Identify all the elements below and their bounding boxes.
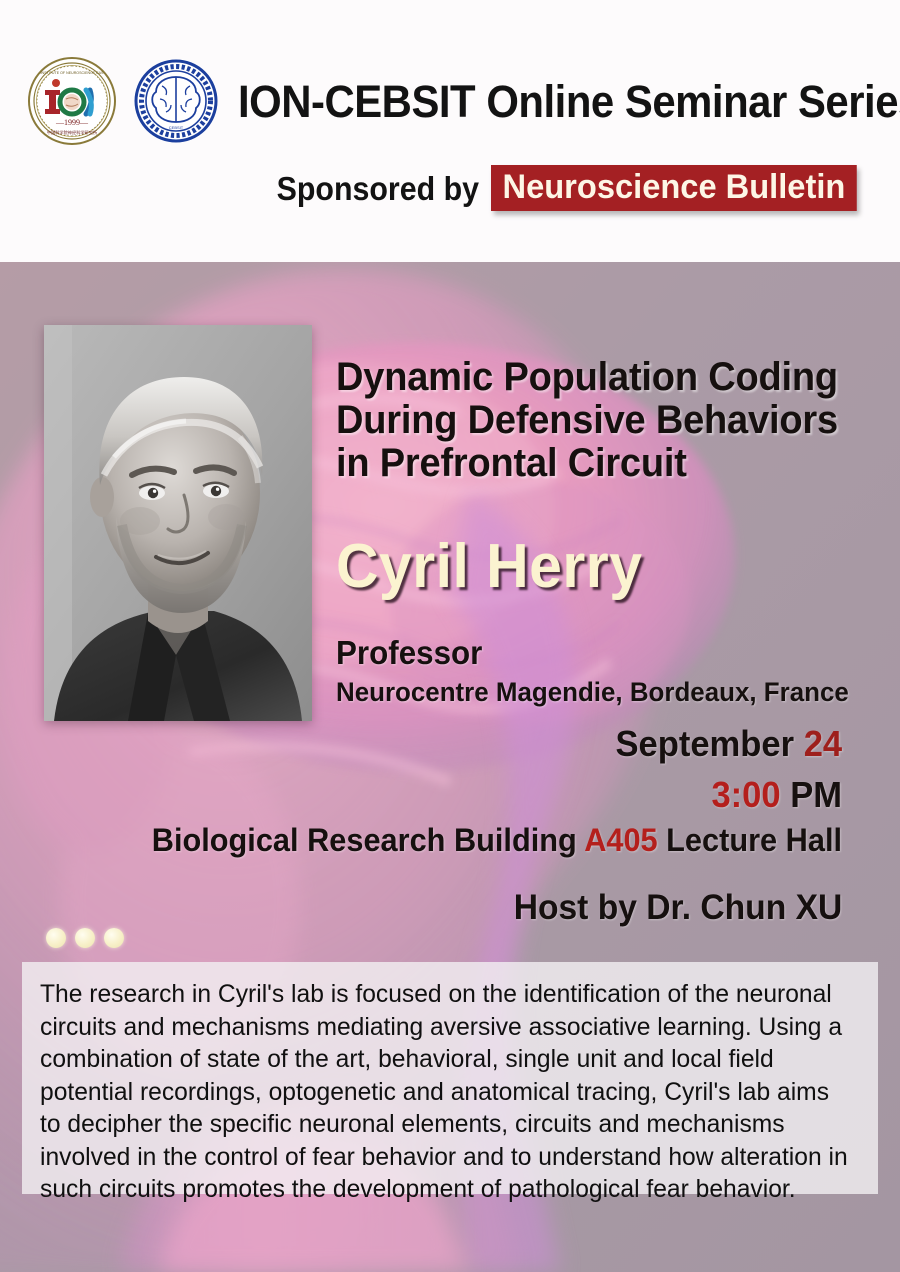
- event-venue-hall: Lecture Hall: [666, 822, 842, 858]
- dot-3: [104, 928, 124, 948]
- sponsor-name-badge: Neuroscience Bulletin: [491, 165, 857, 211]
- sponsor-label: Sponsored by: [276, 172, 478, 205]
- abstract-panel: The research in Cyril's lab is focused o…: [22, 962, 878, 1194]
- speaker-affiliation: Neurocentre Magendie, Bordeaux, France: [336, 679, 849, 706]
- svg-text:—1999—: —1999—: [55, 118, 89, 127]
- svg-text:CEBSIT: CEBSIT: [169, 125, 184, 130]
- speaker-role: Professor: [336, 636, 482, 669]
- svg-text:中国科学院神经科学研究所: 中国科学院神经科学研究所: [47, 129, 97, 136]
- svg-text:INSTITUTE OF NEUROSCIENCE CAS: INSTITUTE OF NEUROSCIENCE CAS: [41, 71, 104, 75]
- talk-title: Dynamic Population Coding During Defensi…: [336, 356, 854, 486]
- event-venue-building: Biological Research Building: [152, 822, 577, 858]
- dot-2: [75, 928, 95, 948]
- event-time: 3:00 PM: [711, 777, 842, 813]
- event-date-month: September: [615, 723, 794, 764]
- event-venue: Biological Research Building A405 Lectur…: [152, 824, 842, 856]
- sponsor-row: Sponsored by Neuroscience Bulletin: [259, 163, 872, 213]
- header-logo-title-row: —1999— 中国科学院神经科学研究所 INSTITUTE OF NEUROSC…: [0, 46, 900, 156]
- event-date: September 24: [615, 726, 842, 762]
- dot-1: [46, 928, 66, 948]
- event-time-clock: 3:00: [711, 774, 780, 815]
- poster-header-band: —1999— 中国科学院神经科学研究所 INSTITUTE OF NEUROSC…: [0, 0, 900, 262]
- talk-title-line-3: in Prefrontal Circuit: [336, 442, 854, 485]
- talk-title-line-1: Dynamic Population Coding: [336, 356, 854, 399]
- event-host: Host by Dr. Chun XU: [513, 890, 842, 925]
- seminar-series-title: ION-CEBSIT Online Seminar Series: [238, 79, 900, 124]
- ion-institute-seal-logo: —1999— 中国科学院神经科学研究所 INSTITUTE OF NEUROSC…: [26, 55, 118, 147]
- talk-title-line-2: During Defensive Behaviors: [336, 399, 854, 442]
- seminar-poster: —1999— 中国科学院神经科学研究所 INSTITUTE OF NEUROSC…: [0, 0, 900, 1272]
- event-time-meridiem: PM: [790, 774, 842, 815]
- speaker-portrait: [44, 325, 312, 721]
- speaker-name: Cyril Herry: [336, 536, 642, 598]
- decorative-dots: [46, 928, 124, 948]
- event-date-day: 24: [804, 723, 842, 764]
- cebsit-brain-seal-logo: CEBSIT: [132, 57, 220, 145]
- abstract-text: The research in Cyril's lab is focused o…: [40, 978, 848, 1206]
- event-venue-room: A405: [584, 822, 657, 858]
